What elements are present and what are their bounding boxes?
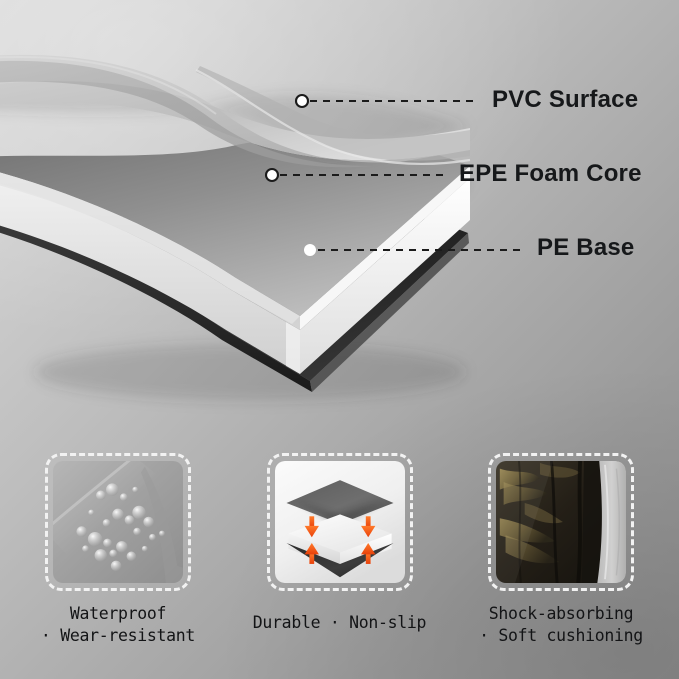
callout-label-pvc-surface: PVC Surface: [492, 88, 638, 112]
crinkled-foam-packaging-icon: [496, 461, 626, 583]
infographic-page: PVC Surface EPE Foam Core PE Base: [0, 0, 679, 679]
feature-thumb-waterproof: [45, 453, 191, 591]
caption-line-1: Durable · Non-slip: [253, 613, 426, 632]
caption-line-1: Shock-absorbing: [489, 604, 634, 623]
callout-label-pe-base: PE Base: [537, 236, 634, 260]
feature-card-durable: Durable · Non-slip: [240, 440, 440, 679]
feature-card-waterproof: Waterproof · Wear-resistant: [18, 440, 218, 679]
caption-line-2: · Soft cushioning: [479, 625, 643, 647]
feature-thumb-shock-absorbing: [488, 453, 634, 591]
layered-compression-arrows-icon: [275, 461, 405, 583]
feature-caption-shock-absorbing: Shock-absorbing · Soft cushioning: [479, 603, 643, 648]
hero-illustration: [0, 0, 679, 430]
caption-line-1: Waterproof: [70, 604, 166, 623]
feature-strip: Waterproof · Wear-resistant: [0, 440, 679, 679]
feature-caption-durable: Durable · Non-slip: [253, 603, 426, 634]
callout-label-epe-foam-core: EPE Foam Core: [459, 162, 642, 186]
feature-card-shock-absorbing: Shock-absorbing · Soft cushioning: [461, 440, 661, 679]
feature-thumb-durable: [267, 453, 413, 591]
water-droplets-on-fabric-icon: [53, 461, 183, 583]
feature-caption-waterproof: Waterproof · Wear-resistant: [41, 603, 195, 648]
caption-line-2: · Wear-resistant: [41, 625, 195, 647]
